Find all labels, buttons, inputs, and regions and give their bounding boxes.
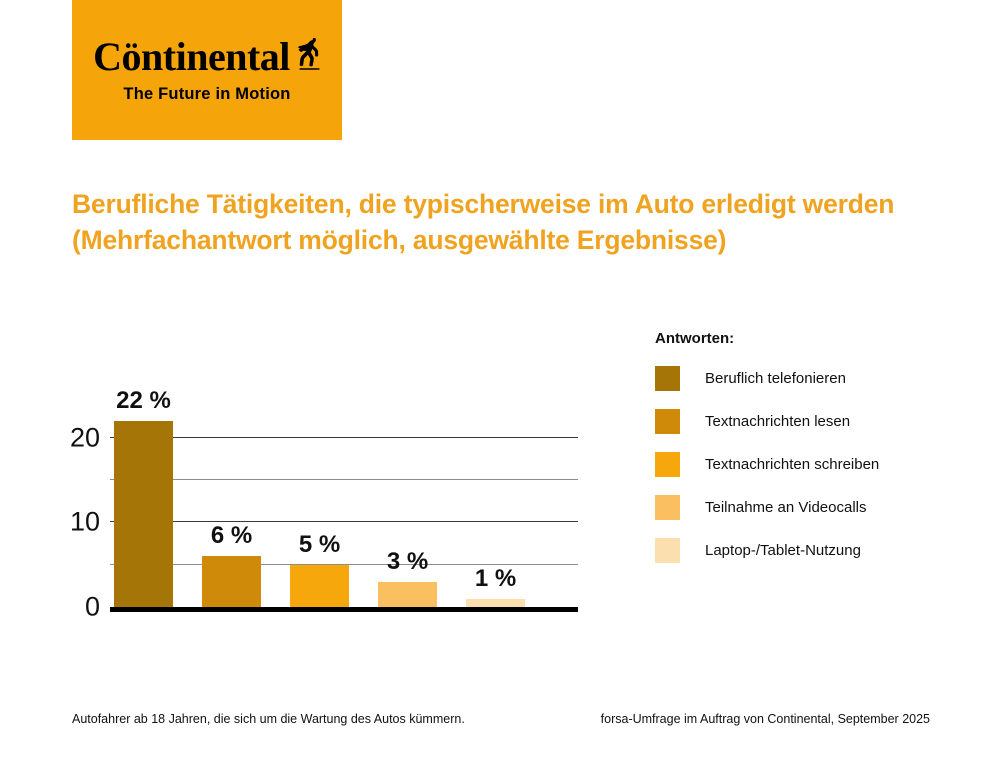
legend-color-swatch [655,366,680,391]
legend-color-swatch [655,495,680,520]
legend-item-label: Teilnahme an Videocalls [705,499,867,516]
legend-color-swatch [655,409,680,434]
bar-value-label: 3 % [387,548,428,576]
legend-item: Teilnahme an Videocalls [655,493,975,521]
bar [466,599,525,607]
logo-wordmark-row: Cöntinental [93,36,321,82]
bar-value-label: 6 % [211,522,252,550]
legend-item-label: Laptop-/Tablet-Nutzung [705,542,861,559]
legend-item: Laptop-/Tablet-Nutzung [655,536,975,564]
bar [290,565,349,607]
legend-color-swatch [655,538,680,563]
y-axis-label-10: 10 [70,507,110,538]
legend-item: Textnachrichten lesen [655,407,975,435]
y-axis-label-0: 0 [85,592,110,623]
bar-group: 6 % [202,404,261,607]
legend-title: Antworten: [655,330,975,347]
logo-wordmark-text: Cöntinental [93,36,290,78]
logo-tagline: The Future in Motion [123,85,290,104]
page-title: Berufliche Tätigkeiten, die typischerwei… [72,186,902,258]
footer-note-source: forsa-Umfrage im Auftrag von Continental… [601,712,930,726]
legend-item: Textnachrichten schreiben [655,450,975,478]
chart-baseline [110,607,578,612]
bar [202,556,261,607]
bar [378,582,437,607]
bar-value-label: 22 % [116,387,171,415]
bar [114,421,173,607]
legend-item-label: Textnachrichten schreiben [705,456,879,473]
bar-value-label: 5 % [299,531,340,559]
legend-item-label: Textnachrichten lesen [705,413,850,430]
bar-group: 22 % [114,404,173,607]
bar-value-label: 1 % [475,565,516,593]
bar-group: 5 % [290,404,349,607]
footer-note-sample: Autofahrer ab 18 Jahren, die sich um die… [72,712,465,726]
legend-item: Beruflich telefonieren [655,364,975,392]
legend-item-label: Beruflich telefonieren [705,370,846,387]
legend-color-swatch [655,452,680,477]
bar-chart: 01020 22 %6 %5 %3 %1 % [72,370,592,620]
chart-bars: 22 %6 %5 %3 %1 % [110,404,578,607]
y-axis-label-20: 20 [70,422,110,453]
legend-rows: Beruflich telefonierenTextnachrichten le… [655,364,975,564]
bar-group: 3 % [378,404,437,607]
chart-legend: Antworten: Beruflich telefonierenTextnac… [655,330,975,579]
bar-group: 1 % [466,404,525,607]
continental-logo: Cöntinental The Future in Motion [72,0,342,140]
rearing-horse-icon [291,38,321,77]
